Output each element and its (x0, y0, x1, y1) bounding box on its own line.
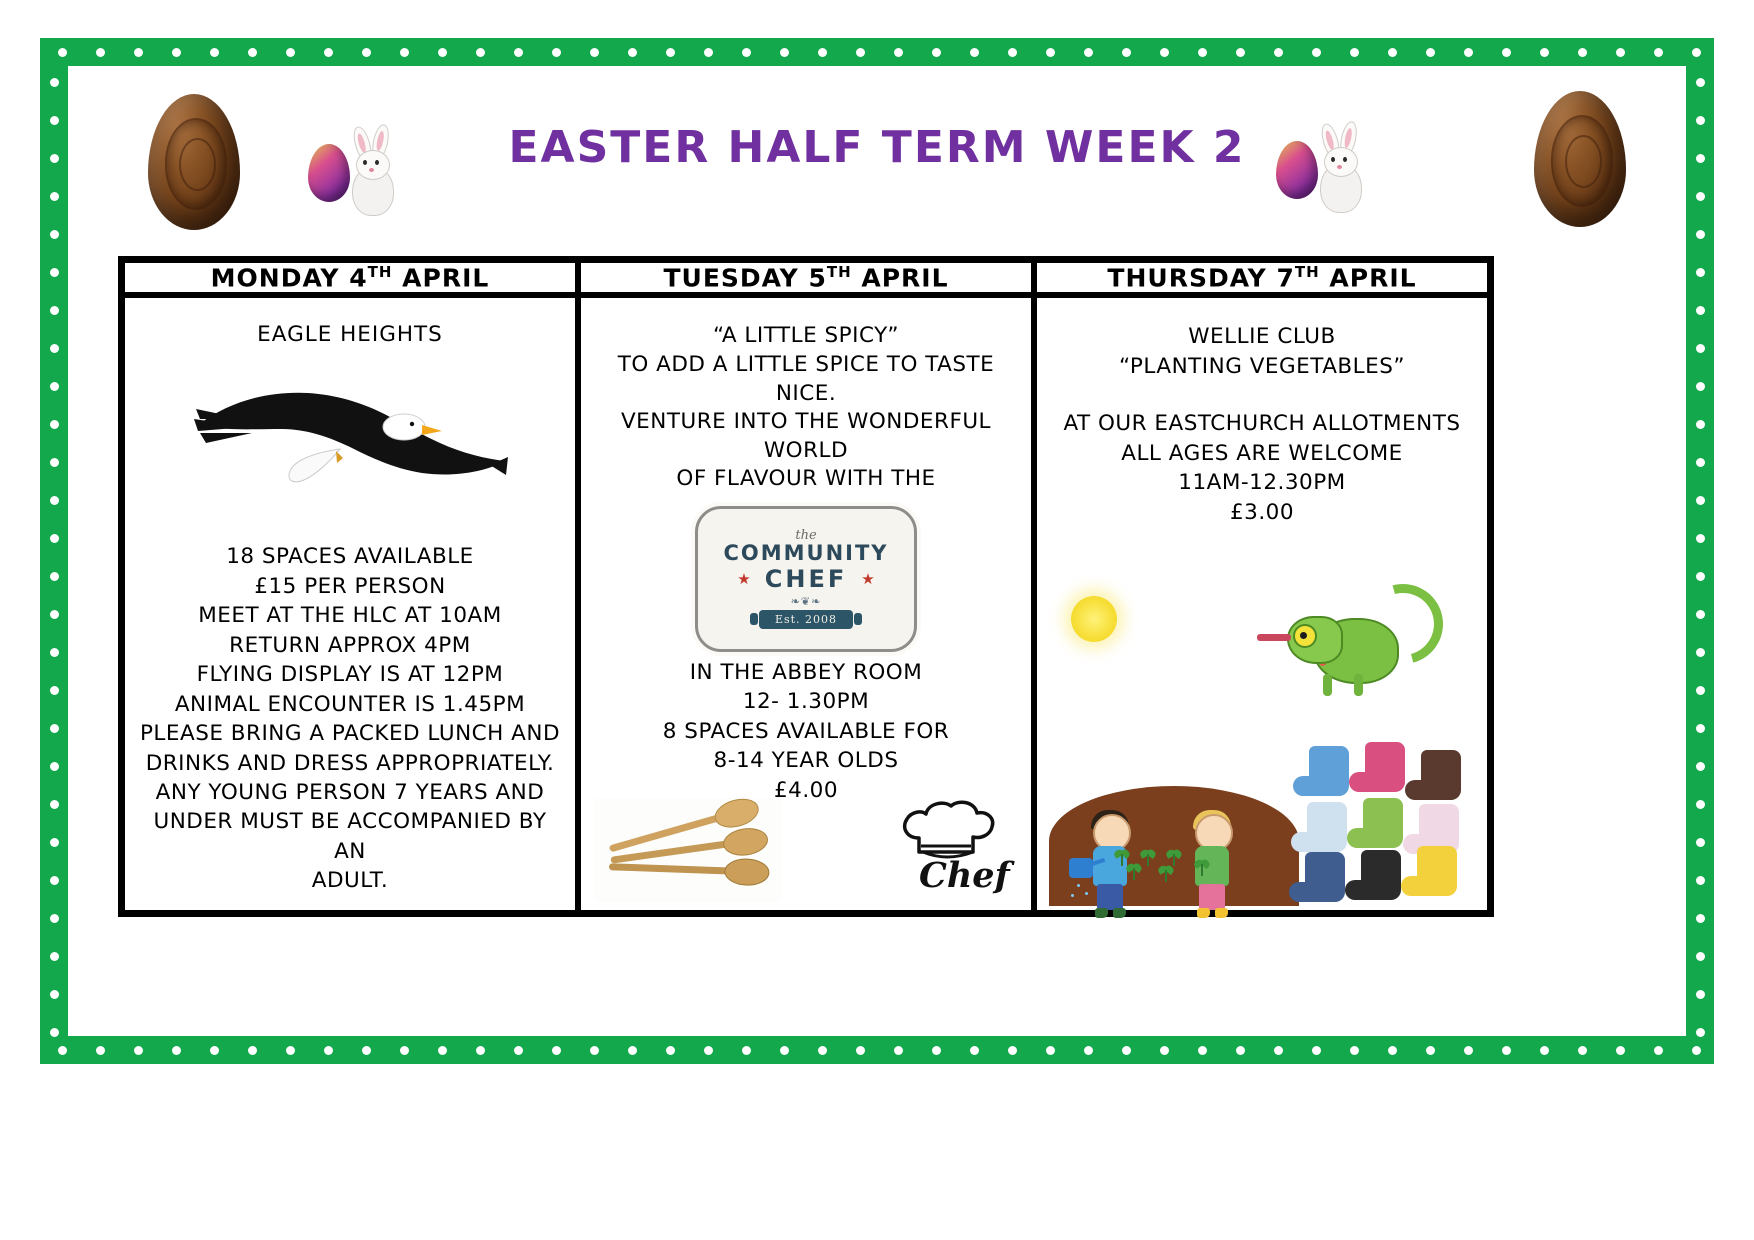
watering-can-icon (1069, 858, 1093, 878)
month-name: APRIL (861, 263, 948, 292)
column-header-thursday: THURSDAY 7TH APRIL (1034, 260, 1490, 295)
date-suffix: TH (368, 263, 393, 281)
activity-details-tuesday: IN THE ABBEY ROOM 12- 1.30PM 8 SPACES AV… (593, 658, 1019, 805)
activity-title-monday: EAGLE HEIGHTS (137, 322, 563, 347)
schedule-table: MONDAY 4TH APRIL TUESDAY 5TH APRIL THURS… (118, 256, 1494, 917)
date-number: 4 (349, 263, 367, 292)
poster-header: EASTER HALF TERM WEEK 2 (68, 66, 1686, 231)
bunny-icon (1308, 127, 1374, 219)
welly-boot (1417, 846, 1457, 896)
welly-boot (1363, 798, 1403, 848)
soil-shape (1049, 786, 1299, 906)
month-name: APRIL (402, 263, 489, 292)
day-name: MONDAY (211, 263, 340, 292)
activity-details-thursday: AT OUR EASTCHURCH ALLOTMENTS ALL AGES AR… (1049, 409, 1475, 527)
column-header-tuesday: TUESDAY 5TH APRIL (578, 260, 1034, 295)
chef-wordmark: Chef (919, 855, 1010, 896)
day-name: THURSDAY (1107, 263, 1266, 292)
welly-boot (1361, 850, 1401, 900)
tuesday-bottom-images: Chef (595, 792, 1017, 902)
activity-details-monday: 18 SPACES AVAILABLE £15 PER PERSON MEET … (137, 542, 563, 895)
table-header-row: MONDAY 4TH APRIL TUESDAY 5TH APRIL THURS… (122, 260, 1490, 295)
welly-boot (1305, 852, 1345, 902)
star-icon: ★ (737, 570, 750, 588)
chef-hat-logo: Chef (893, 792, 1017, 902)
date-number: 5 (808, 263, 826, 292)
poster-border: EASTER HALF TERM WEEK 2 (40, 38, 1714, 1064)
poster-canvas: EASTER HALF TERM WEEK 2 (68, 66, 1686, 1036)
date-number: 7 (1276, 263, 1294, 292)
rolling-pin-icon: Est. 2008 (759, 610, 853, 629)
welly-boot (1309, 746, 1349, 796)
cell-monday: EAGLE HEIGHTS (122, 295, 578, 912)
community-chef-logo: the COMMUNITY ★ CHEF ★ ❧❦❧ Est. 2008 (593, 506, 1019, 652)
logo-community-text: COMMUNITY (723, 541, 888, 565)
cell-thursday: WELLIE CLUB “PLANTING VEGETABLES” AT OUR… (1034, 295, 1490, 912)
wooden-spoons-image (595, 798, 781, 902)
welly-boot (1421, 750, 1461, 800)
schedule-table-wrapper: MONDAY 4TH APRIL TUESDAY 5TH APRIL THURS… (118, 256, 1494, 917)
chocolate-egg-icon (1534, 91, 1626, 227)
activity-intro-thursday: WELLIE CLUB “PLANTING VEGETABLES” (1049, 322, 1475, 381)
table-body-row: EAGLE HEIGHTS (122, 295, 1490, 912)
star-icon: ★ (861, 570, 874, 588)
column-header-monday: MONDAY 4TH APRIL (122, 260, 578, 295)
activity-intro-tuesday: “A LITTLE SPICY” TO ADD A LITTLE SPICE T… (593, 322, 1019, 494)
month-name: APRIL (1329, 263, 1416, 292)
page-title: EASTER HALF TERM WEEK 2 (68, 122, 1686, 173)
bunny-with-egg-icon (1276, 121, 1386, 226)
sun-icon (1071, 596, 1117, 642)
cell-tuesday: “A LITTLE SPICY” TO ADD A LITTLE SPICE T… (578, 295, 1034, 912)
date-suffix: TH (1295, 263, 1320, 281)
date-suffix: TH (827, 263, 852, 281)
thursday-images (1045, 576, 1479, 906)
logo-chef-text: CHEF (765, 565, 848, 593)
day-name: TUESDAY (663, 263, 798, 292)
welly-boot (1307, 802, 1347, 852)
eagle-image (137, 353, 563, 518)
ornament-icon: ❧❦❧ (791, 595, 822, 608)
chameleon-icon (1279, 578, 1449, 708)
welly-boot (1365, 742, 1405, 792)
wellington-boots-image (1283, 740, 1473, 900)
